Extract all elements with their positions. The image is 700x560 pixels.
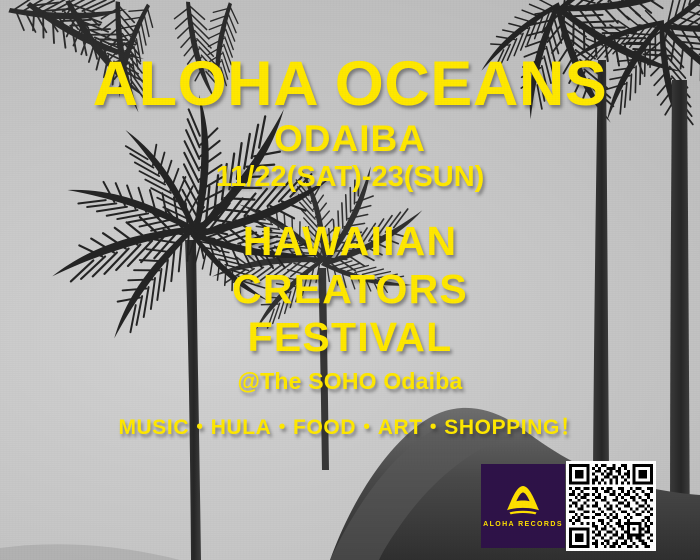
event-poster: ALOHA OCEANS ODAIBA 11/22(SAT)-23(SUN) H…	[0, 0, 700, 560]
photo-grain-overlay	[0, 0, 700, 560]
